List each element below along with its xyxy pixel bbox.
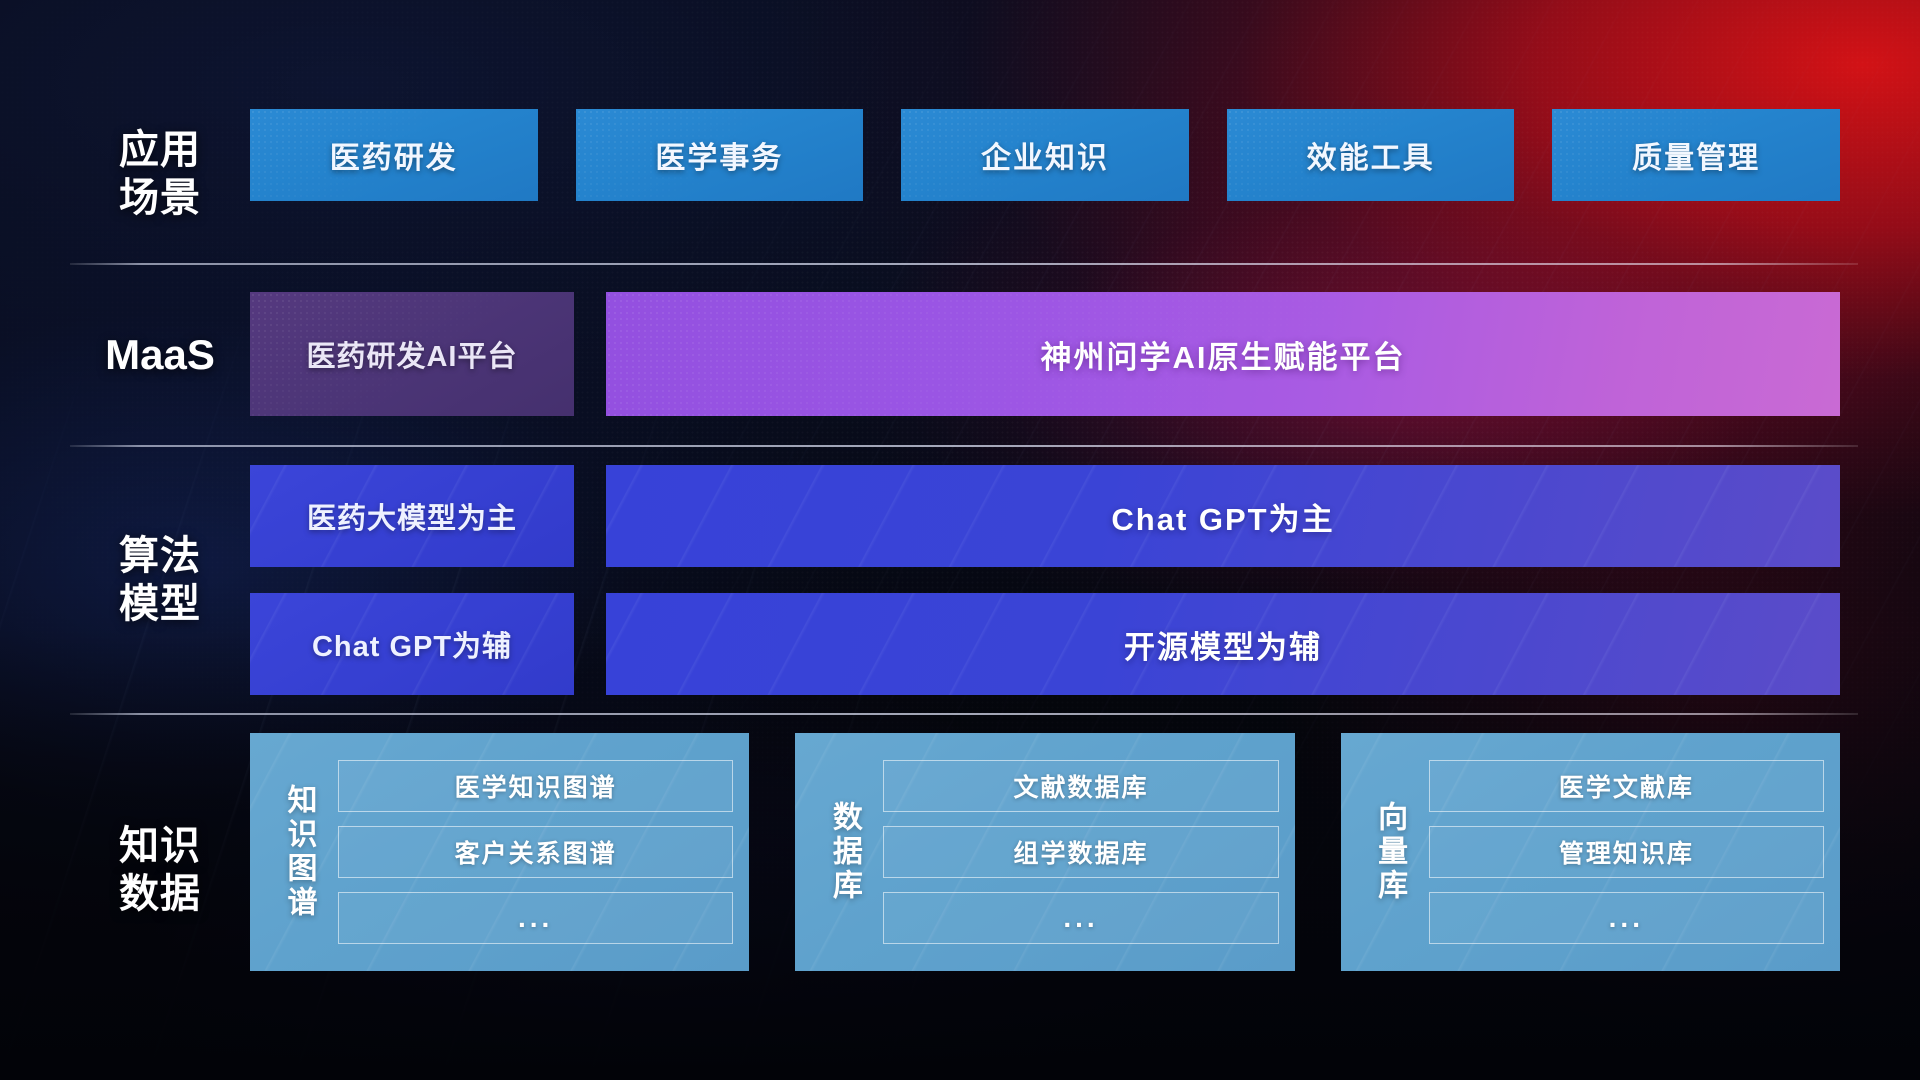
knowledge-item-label: ... (1609, 902, 1644, 934)
slide-stage: 应用 场景 医药研发 医学事务 企业知识 效能工具 质量管理 MaaS 医药研发… (0, 0, 1920, 1080)
knowledge-group-database: 数据库 文献数据库 组学数据库 ... (795, 733, 1294, 971)
knowledge-item-medical-knowledge-graph[interactable]: 医学知识图谱 (338, 760, 733, 812)
knowledge-item-label: 医学知识图谱 (455, 768, 617, 804)
app-card-enterprise-knowledge[interactable]: 企业知识 (901, 109, 1189, 201)
divider-algorithm-knowledge (70, 713, 1858, 715)
knowledge-group-title: 数据库 (805, 747, 883, 957)
app-card-label: 质量管理 (1632, 133, 1760, 177)
app-card-medicine-rd[interactable]: 医药研发 (250, 109, 538, 201)
algorithm-card-label: 医药大模型为主 (307, 495, 517, 537)
row-label-applications: 应用 场景 (70, 126, 250, 222)
knowledge-group-items: 医学文献库 管理知识库 ... (1429, 747, 1824, 957)
maas-row: 医药研发AI平台 神州问学AI原生赋能平台 (250, 292, 1840, 416)
maas-card-label: 医药研发AI平台 (306, 333, 517, 375)
knowledge-item-customer-relation-graph[interactable]: 客户关系图谱 (338, 826, 733, 878)
knowledge-item-more[interactable]: ... (883, 892, 1278, 944)
maas-card-shenzhou-wenxue-platform[interactable]: 神州问学AI原生赋能平台 (606, 292, 1840, 416)
row-label-algorithm: 算法 模型 (70, 532, 250, 628)
app-card-efficiency-tools[interactable]: 效能工具 (1227, 109, 1515, 201)
algorithm-card-pharma-llm-primary[interactable]: 医药大模型为主 (250, 465, 574, 567)
knowledge-group-title: 向量库 (1351, 747, 1429, 957)
app-card-label: 医学事务 (655, 133, 783, 177)
maas-card-pharma-ai-platform[interactable]: 医药研发AI平台 (250, 292, 574, 416)
knowledge-item-medical-literature-store[interactable]: 医学文献库 (1429, 760, 1824, 812)
algorithm-row: 医药大模型为主 Chat GPT为主 Chat GPT为辅 开源模型为辅 (250, 465, 1840, 695)
app-card-medical-affairs[interactable]: 医学事务 (576, 109, 864, 201)
divider-maas-algorithm (70, 445, 1858, 447)
knowledge-group-title: 知识图谱 (260, 747, 338, 957)
knowledge-item-management-knowledge-store[interactable]: 管理知识库 (1429, 826, 1824, 878)
knowledge-group-knowledge-graph: 知识图谱 医学知识图谱 客户关系图谱 ... (250, 733, 749, 971)
knowledge-item-label: 文献数据库 (1013, 768, 1148, 804)
algorithm-line-primary: 医药大模型为主 Chat GPT为主 (250, 465, 1840, 567)
knowledge-item-more[interactable]: ... (338, 892, 733, 944)
knowledge-item-label: 组学数据库 (1013, 834, 1148, 870)
algorithm-card-label: 开源模型为辅 (1124, 622, 1322, 667)
app-card-label: 医药研发 (330, 133, 458, 177)
row-label-knowledge: 知识 数据 (70, 822, 250, 918)
knowledge-item-literature-database[interactable]: 文献数据库 (883, 760, 1278, 812)
algorithm-card-label: Chat GPT为主 (1111, 494, 1334, 539)
app-card-label: 效能工具 (1307, 133, 1435, 177)
maas-card-label: 神州问学AI原生赋能平台 (1041, 332, 1406, 377)
knowledge-item-label: 医学文献库 (1559, 768, 1694, 804)
knowledge-group-items: 文献数据库 组学数据库 ... (883, 747, 1278, 957)
knowledge-item-label: ... (1063, 902, 1098, 934)
algorithm-card-label: Chat GPT为辅 (312, 623, 512, 665)
applications-row: 医药研发 医学事务 企业知识 效能工具 质量管理 (250, 109, 1840, 201)
knowledge-item-label: 管理知识库 (1559, 834, 1694, 870)
knowledge-group-items: 医学知识图谱 客户关系图谱 ... (338, 747, 733, 957)
knowledge-item-omics-database[interactable]: 组学数据库 (883, 826, 1278, 878)
knowledge-group-vector-store: 向量库 医学文献库 管理知识库 ... (1341, 733, 1840, 971)
app-card-label: 企业知识 (981, 133, 1109, 177)
algorithm-card-chatgpt-primary[interactable]: Chat GPT为主 (606, 465, 1840, 567)
algorithm-card-opensource-secondary[interactable]: 开源模型为辅 (606, 593, 1840, 695)
knowledge-item-more[interactable]: ... (1429, 892, 1824, 944)
algorithm-card-chatgpt-secondary[interactable]: Chat GPT为辅 (250, 593, 574, 695)
row-label-maas: MaaS (70, 331, 250, 379)
algorithm-line-secondary: Chat GPT为辅 开源模型为辅 (250, 593, 1840, 695)
divider-applications-maas (70, 263, 1858, 265)
knowledge-row: 知识图谱 医学知识图谱 客户关系图谱 ... 数据库 (250, 733, 1840, 971)
knowledge-item-label: 客户关系图谱 (455, 834, 617, 870)
knowledge-item-label: ... (518, 902, 553, 934)
app-card-quality-management[interactable]: 质量管理 (1552, 109, 1840, 201)
